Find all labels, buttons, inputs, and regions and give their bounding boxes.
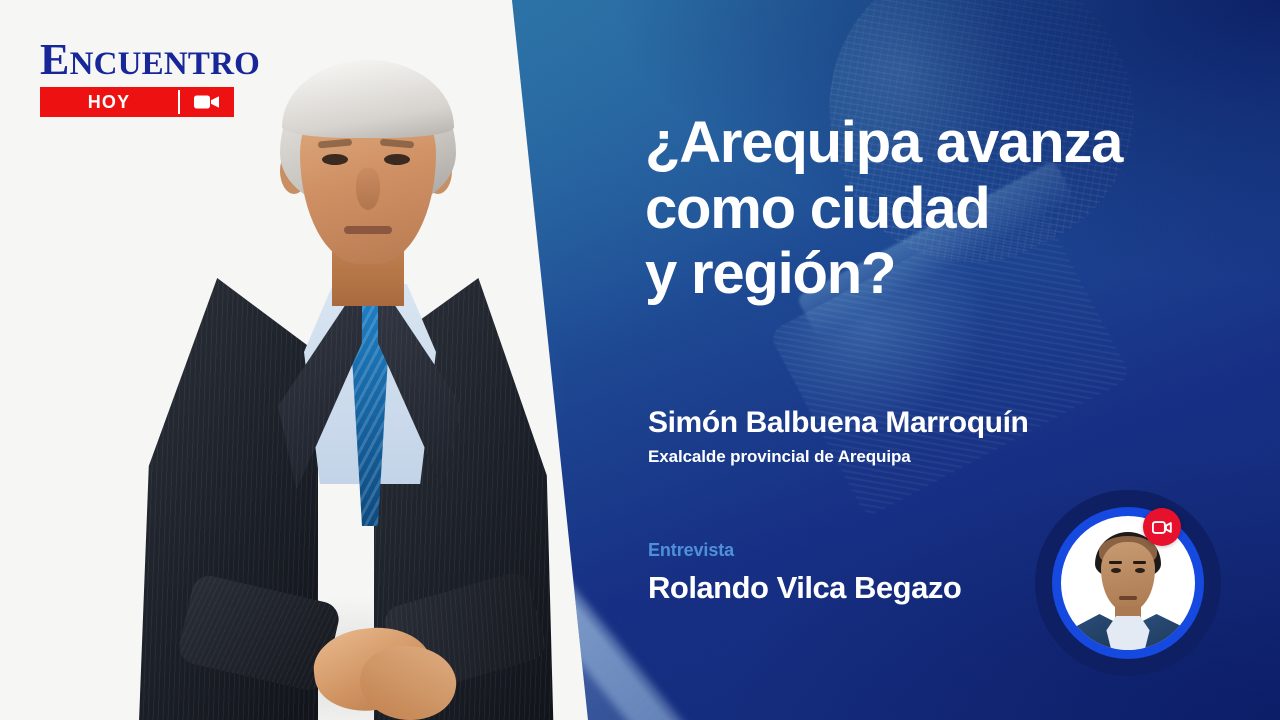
avatar-mouth [1119, 596, 1137, 600]
interviewer-avatar[interactable] [1035, 490, 1221, 676]
avatar-video-camera-icon [1143, 508, 1181, 546]
nose [356, 168, 380, 210]
eye-right [384, 154, 410, 165]
avatar-eye-left [1111, 568, 1121, 573]
logo-wordmark-rest: NCUENTRO [70, 46, 260, 82]
headline-line-1: ¿Arequipa avanza [645, 110, 1225, 176]
hair-top [282, 60, 454, 138]
guest-role: Exalcalde provincial de Arequipa [648, 447, 1208, 467]
avatar-face [1101, 542, 1155, 612]
avatar-ring [1052, 507, 1204, 659]
interviewer-block: Entrevista Rolando Vilca Begazo [648, 540, 1068, 606]
headline-line-2: como ciudad [645, 176, 1225, 242]
guest-name: Simón Balbuena Marroquín [648, 406, 1208, 440]
logo-tagline: HOY [40, 87, 178, 117]
headline-line-3: y región? [645, 241, 1225, 307]
logo-bar: HOY [40, 87, 234, 117]
video-camera-icon [180, 87, 234, 117]
guest-block: Simón Balbuena Marroquín Exalcalde provi… [648, 406, 1208, 467]
guest-portrait [128, 28, 558, 720]
interview-label: Entrevista [648, 540, 1068, 561]
logo-wordmark: ENCUENTRO [40, 38, 234, 82]
avatar-eye-right [1135, 568, 1145, 573]
mouth [344, 226, 392, 234]
logo-wordmark-initial: E [40, 35, 70, 84]
avatar-eyebrow-left [1109, 561, 1122, 564]
eye-left [322, 154, 348, 165]
channel-logo[interactable]: ENCUENTRO HOY [40, 38, 234, 117]
thumbnail-canvas: ENCUENTRO HOY ¿Arequipa avanza como ciud… [0, 0, 1280, 720]
interviewer-name: Rolando Vilca Begazo [648, 570, 1068, 606]
headline: ¿Arequipa avanza como ciudad y región? [645, 110, 1225, 307]
avatar-eyebrow-right [1133, 561, 1146, 564]
